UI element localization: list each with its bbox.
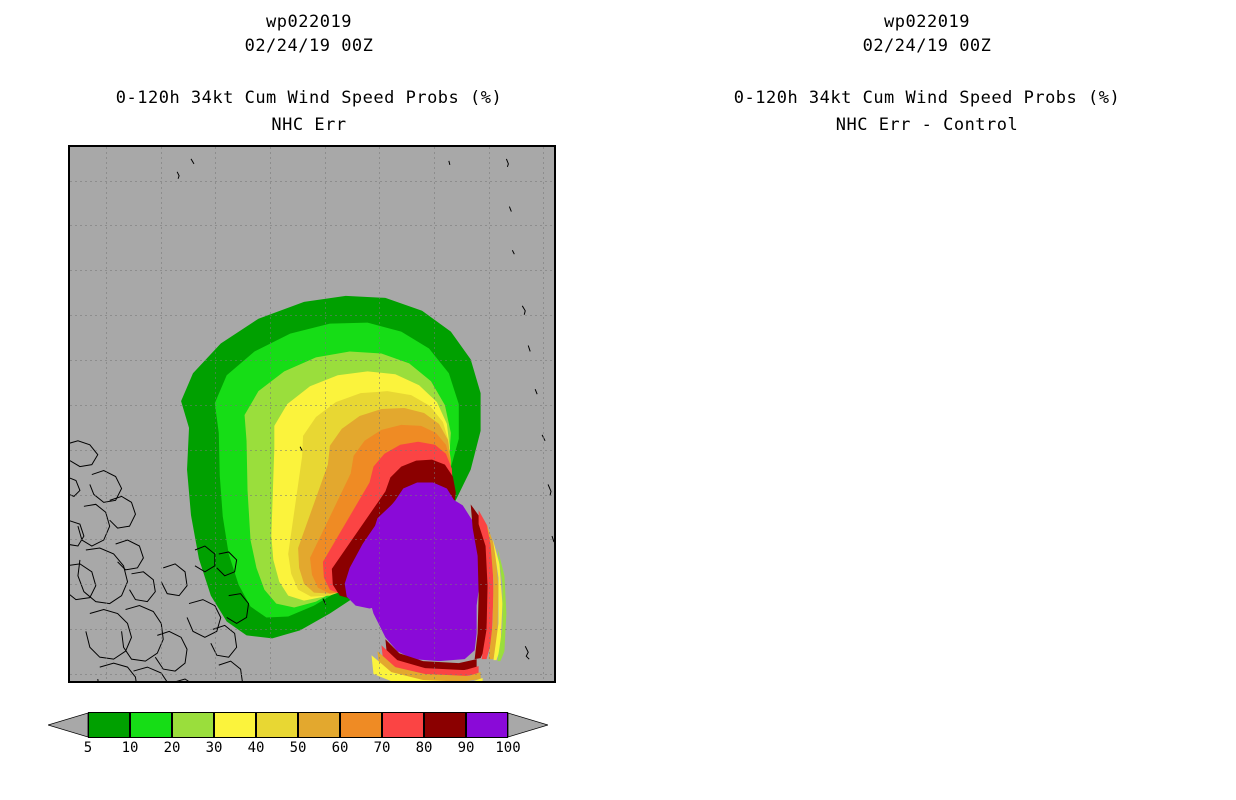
colorbar-tick-label: 90: [458, 740, 475, 756]
colorbar-tick-label: 50: [290, 740, 307, 756]
gridline-vertical: [489, 147, 490, 681]
storm-id-left: wp022019: [0, 12, 618, 32]
colorbar-tick-label: 70: [374, 740, 391, 756]
colorbar-band: [340, 712, 382, 738]
probability-contours: [70, 147, 554, 681]
gridline-horizontal: [70, 539, 554, 540]
colorbar-band: [466, 712, 508, 738]
gridline-vertical: [106, 147, 107, 681]
gridline-horizontal: [70, 315, 554, 316]
panel-nhc-err-minus-control: wp022019 02/24/19 00Z 0-120h 34kt Cum Wi…: [618, 0, 1236, 800]
gridline-horizontal: [70, 674, 554, 675]
colorbar-tick-label: 10: [122, 740, 139, 756]
gridline-horizontal: [70, 450, 554, 451]
colorbar-band: [256, 712, 298, 738]
colorbar-tick-label: 100: [495, 740, 520, 756]
panel-title-right: 0-120h 34kt Cum Wind Speed Probs (%): [618, 88, 1236, 108]
gridline-horizontal: [70, 584, 554, 585]
gridline-vertical: [161, 147, 162, 681]
gridline-horizontal: [70, 181, 554, 182]
colorbar-tick-label: 40: [248, 740, 265, 756]
gridline-vertical: [270, 147, 271, 681]
colorbar-tick-label: 80: [416, 740, 433, 756]
colorbar-tick-label: 20: [164, 740, 181, 756]
gridline-vertical: [543, 147, 544, 681]
colorbar-band: [214, 712, 256, 738]
colorbar-tick-label: 30: [206, 740, 223, 756]
gridline-vertical: [215, 147, 216, 681]
colorbar-band: [298, 712, 340, 738]
gridline-vertical: [434, 147, 435, 681]
storm-id-right: wp022019: [618, 12, 1236, 32]
colorbar-left-arrow-icon: [48, 712, 88, 738]
colorbar-probability[interactable]: 5 10 20 30 40 50 60 70 80 90 100: [88, 712, 508, 738]
colorbar-band: [88, 712, 130, 738]
colorbar-band: [130, 712, 172, 738]
gridline-horizontal: [70, 629, 554, 630]
panel-title-left: 0-120h 34kt Cum Wind Speed Probs (%): [0, 88, 618, 108]
gridline-horizontal: [70, 495, 554, 496]
gridline-horizontal: [70, 270, 554, 271]
colorbar-right-arrow-icon: [508, 712, 548, 738]
colorbar-band: [424, 712, 466, 738]
panel-subtitle-left: NHC Err: [0, 115, 618, 135]
gridline-horizontal: [70, 360, 554, 361]
gridline-horizontal: [70, 405, 554, 406]
colorbar-band: [382, 712, 424, 738]
datetime-right: 02/24/19 00Z: [618, 36, 1236, 56]
colorbar-band: [172, 712, 214, 738]
colorbar-tick-label: 60: [332, 740, 349, 756]
colorbar-tick-label: 5: [84, 740, 92, 756]
panel-nhc-err: wp022019 02/24/19 00Z 0-120h 34kt Cum Wi…: [0, 0, 618, 800]
gridline-vertical: [379, 147, 380, 681]
gridline-vertical: [325, 147, 326, 681]
gridline-horizontal: [70, 225, 554, 226]
map-plot-nhc-err[interactable]: 26N 24N 22N 20N 18N 16N 14N 12N 10N 8N 6…: [68, 145, 556, 683]
datetime-left: 02/24/19 00Z: [0, 36, 618, 56]
panel-subtitle-right: NHC Err - Control: [618, 115, 1236, 135]
